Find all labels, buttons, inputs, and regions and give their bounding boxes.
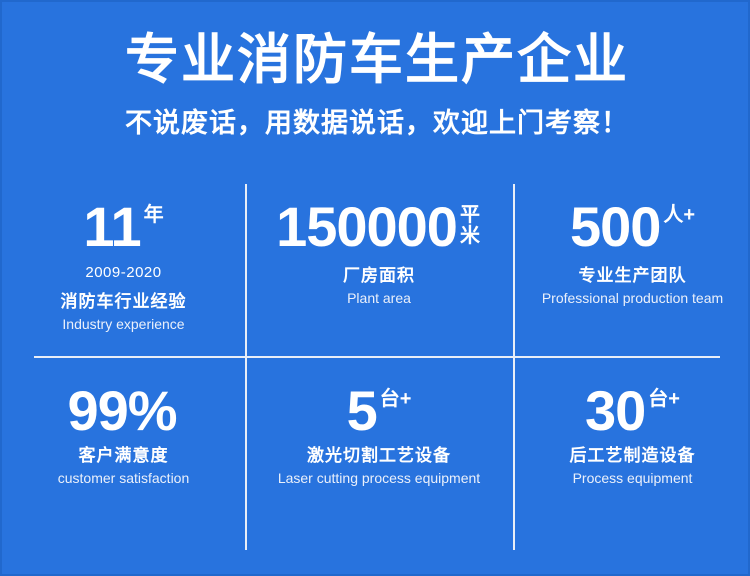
- stat-unit: 年: [144, 198, 164, 226]
- stat-label-en: Professional production team: [542, 289, 723, 308]
- stat-figure: 11 年: [83, 198, 163, 256]
- stat-figure: 150000 平米: [276, 198, 482, 256]
- stat-cell-production-team: 500 人+ 专业生产团队 Professional production te…: [513, 184, 750, 356]
- stat-label-cn: 厂房面积: [343, 264, 415, 287]
- stat-figure: 30 台+: [585, 382, 680, 440]
- banner-header: 专业消防车生产企业 不说废话，用数据说话，欢迎上门考察！: [2, 2, 750, 140]
- stat-label-en: Plant area: [347, 289, 411, 308]
- stat-label-cn: 消防车行业经验: [61, 290, 187, 313]
- stat-unit: 人+: [663, 198, 695, 226]
- stat-number: 11: [83, 198, 140, 256]
- stat-number: 5: [347, 382, 377, 440]
- stat-label-cn: 专业生产团队: [579, 264, 687, 287]
- stats-grid: 11 年 2009-2020 消防车行业经验 Industry experien…: [2, 184, 750, 550]
- stat-label-cn: 激光切割工艺设备: [307, 444, 451, 467]
- stat-unit: 台+: [380, 382, 412, 410]
- stat-label-en: Laser cutting process equipment: [278, 469, 480, 488]
- page-subtitle: 不说废话，用数据说话，欢迎上门考察！: [2, 92, 750, 140]
- stat-cell-laser-cutting-equipment: 5 台+ 激光切割工艺设备 Laser cutting process equi…: [245, 356, 513, 550]
- stat-unit: 平米: [460, 198, 482, 247]
- stat-cell-customer-satisfaction: 99% 客户满意度 customer satisfaction: [2, 356, 245, 550]
- promo-banner: 专业消防车生产企业 不说废话，用数据说话，欢迎上门考察！ 11 年 2009-2…: [0, 0, 750, 576]
- stat-figure: 5 台+: [347, 382, 412, 440]
- stat-figure: 500 人+: [570, 198, 695, 256]
- stat-unit: 台+: [648, 382, 680, 410]
- stat-cell-plant-area: 150000 平米 厂房面积 Plant area: [245, 184, 513, 356]
- page-title: 专业消防车生产企业: [2, 2, 750, 92]
- stat-label-en: Industry experience: [62, 315, 184, 334]
- stat-number: 99%: [67, 382, 176, 440]
- stat-year-range: 2009-2020: [85, 263, 161, 282]
- stat-number: 30: [585, 382, 645, 440]
- stat-cell-industry-experience: 11 年 2009-2020 消防车行业经验 Industry experien…: [2, 184, 245, 356]
- stat-figure: 99%: [67, 382, 179, 440]
- stat-cell-process-equipment: 30 台+ 后工艺制造设备 Process equipment: [513, 356, 750, 550]
- stat-label-en: Process equipment: [573, 469, 693, 488]
- stat-label-cn: 客户满意度: [79, 444, 169, 467]
- stat-number: 150000: [276, 198, 457, 256]
- stat-label-cn: 后工艺制造设备: [570, 444, 696, 467]
- stat-label-en: customer satisfaction: [58, 469, 190, 488]
- stat-number: 500: [570, 198, 660, 256]
